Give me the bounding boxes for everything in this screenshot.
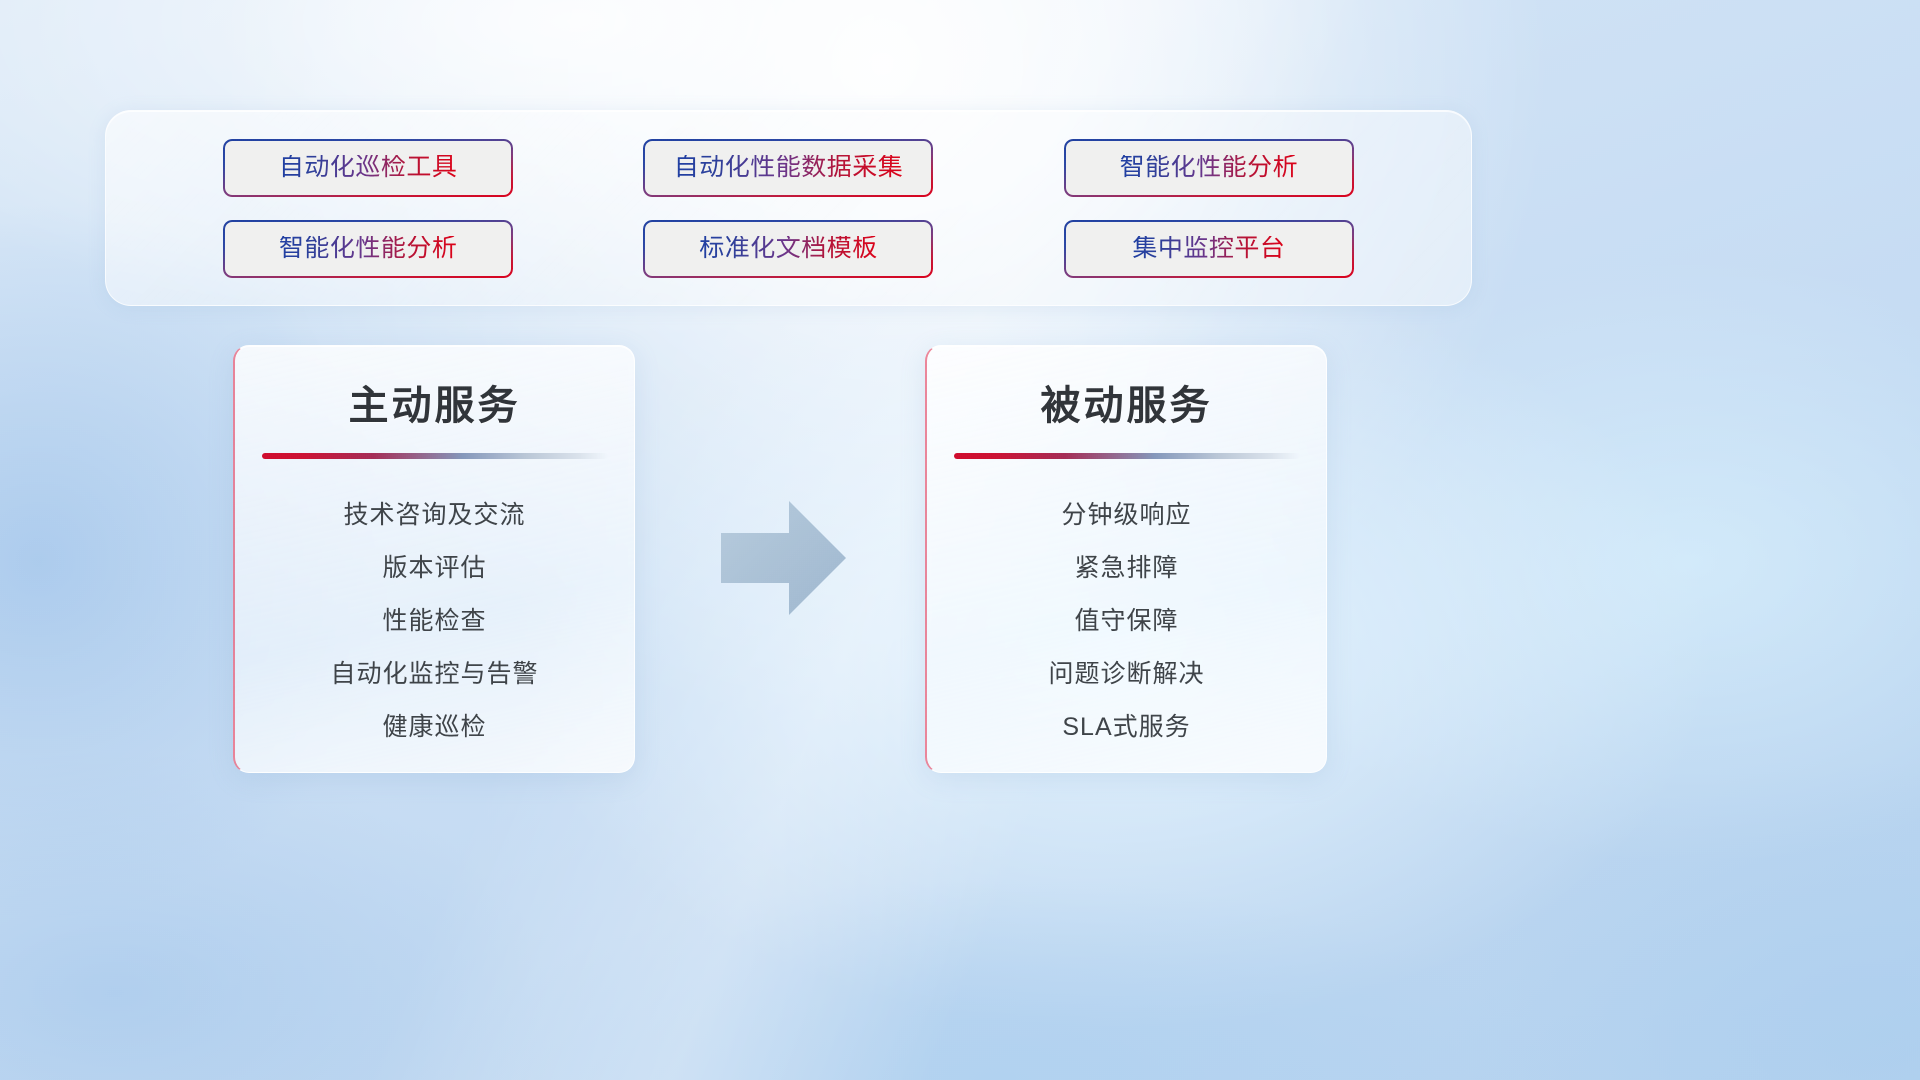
service-card-title: 主动服务 (235, 373, 634, 431)
list-item: 性能检查 (253, 595, 616, 648)
list-item: 健康巡检 (253, 701, 616, 754)
list-item: SLA式服务 (945, 701, 1308, 754)
capability-chip-3[interactable]: 智能化性能分析 (1064, 139, 1354, 197)
capability-chip-label: 智能化性能分析 (1120, 155, 1299, 180)
list-item: 问题诊断解决 (945, 648, 1308, 701)
capability-chip-2[interactable]: 自动化性能数据采集 (643, 139, 933, 197)
list-item: 紧急排障 (945, 542, 1308, 595)
right-arrow-icon (717, 497, 850, 619)
capability-chip-label: 智能化性能分析 (279, 236, 458, 261)
list-item: 技术咨询及交流 (253, 489, 616, 542)
service-card-title: 被动服务 (927, 373, 1326, 431)
service-card-passive: 被动服务 分钟级响应 紧急排障 值守保障 问题诊断解决 SLA式服务 (925, 345, 1327, 773)
capability-chip-label: 自动化巡检工具 (279, 155, 458, 180)
list-item: 值守保障 (945, 595, 1308, 648)
list-item: 分钟级响应 (945, 489, 1308, 542)
capability-chip-1[interactable]: 自动化巡检工具 (223, 139, 513, 197)
capability-chip-label: 自动化性能数据采集 (674, 155, 904, 180)
service-card-item-list: 技术咨询及交流 版本评估 性能检查 自动化监控与告警 健康巡检 (235, 489, 634, 754)
service-card-divider (954, 453, 1300, 459)
capability-chip-4[interactable]: 智能化性能分析 (223, 220, 513, 278)
service-card-divider (262, 453, 608, 459)
capability-chip-6[interactable]: 集中监控平台 (1064, 220, 1354, 278)
capabilities-panel: 自动化巡检工具 自动化性能数据采集 智能化性能分析 智能化性能分析 标准化文档模… (105, 110, 1472, 306)
service-card-active: 主动服务 技术咨询及交流 版本评估 性能检查 自动化监控与告警 健康巡检 (233, 345, 635, 773)
list-item: 自动化监控与告警 (253, 648, 616, 701)
capability-chip-label: 集中监控平台 (1132, 236, 1285, 261)
capability-chip-label: 标准化文档模板 (699, 236, 878, 261)
service-card-item-list: 分钟级响应 紧急排障 值守保障 问题诊断解决 SLA式服务 (927, 489, 1326, 754)
list-item: 版本评估 (253, 542, 616, 595)
capability-chip-5[interactable]: 标准化文档模板 (643, 220, 933, 278)
